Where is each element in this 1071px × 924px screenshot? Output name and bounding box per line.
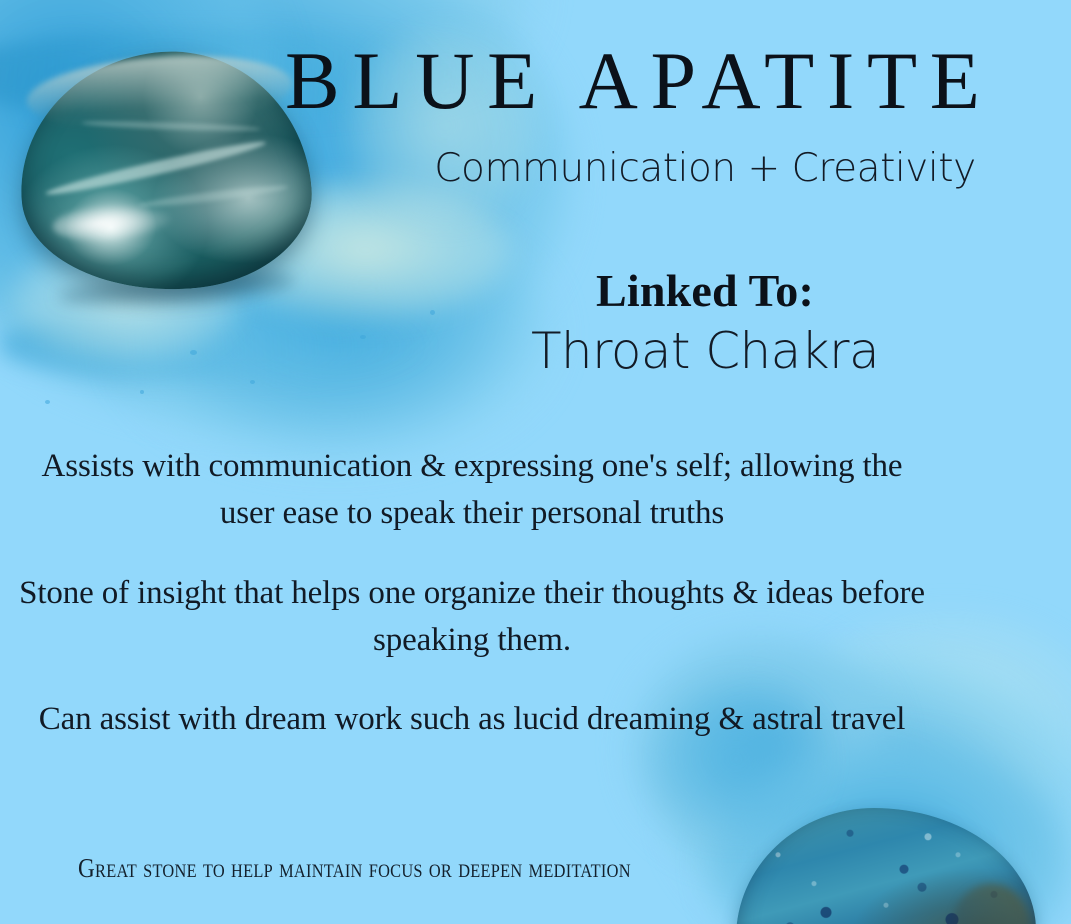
page-subtitle: Communication + Creativity (425, 146, 985, 191)
benefit-paragraph: Can assist with dream work such as lucid… (12, 696, 932, 743)
linked-to-label: Linked To: (425, 264, 985, 317)
crystal-info-card: BLUE APATITE Communication + Creativity … (0, 0, 1071, 924)
linked-to-value: Throat Chakra (425, 322, 985, 380)
benefit-paragraph: Stone of insight that helps one organize… (12, 570, 932, 664)
footer-note: Great stone to help maintain focus or de… (78, 853, 631, 884)
page-title: BLUE APATITE (0, 40, 796, 122)
benefit-paragraph: Assists with communication & expressing … (12, 443, 932, 537)
text-layer: BLUE APATITE Communication + Creativity … (0, 0, 1071, 924)
